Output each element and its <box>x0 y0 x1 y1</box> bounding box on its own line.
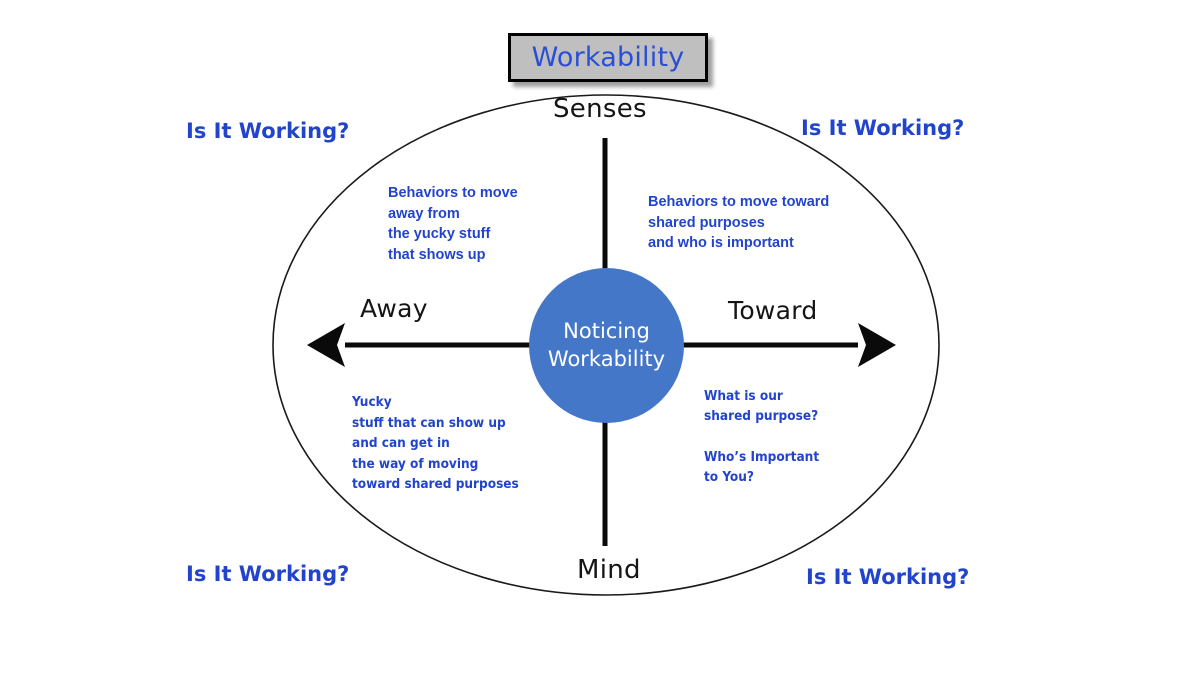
quadrant-text-lower-right-who: Who’s Important to You? <box>704 447 819 488</box>
quadrant-text-upper-left: Behaviors to move away from the yucky st… <box>388 183 518 265</box>
axis-label-toward: Toward <box>728 296 818 325</box>
corner-label-bottom-right: Is It Working? <box>806 565 969 589</box>
axis-label-mind: Mind <box>577 555 641 585</box>
corner-label-top-left: Is It Working? <box>186 119 349 143</box>
corner-label-top-right: Is It Working? <box>801 116 964 140</box>
quadrant-text-lower-left: Yucky stuff that can show up and can get… <box>352 392 519 495</box>
diagram-canvas: Workability Noticing Workability Senses … <box>0 0 1200 675</box>
axis-label-away: Away <box>360 294 428 323</box>
quadrant-text-lower-right-purpose: What is our shared purpose? <box>704 386 818 427</box>
center-label-line2: Workability <box>548 346 665 374</box>
center-label-line1: Noticing <box>563 318 650 346</box>
quadrant-text-upper-right: Behaviors to move toward shared purposes… <box>648 192 829 254</box>
center-circle: Noticing Workability <box>529 268 684 423</box>
axis-label-senses: Senses <box>553 94 647 124</box>
corner-label-bottom-left: Is It Working? <box>186 562 349 586</box>
